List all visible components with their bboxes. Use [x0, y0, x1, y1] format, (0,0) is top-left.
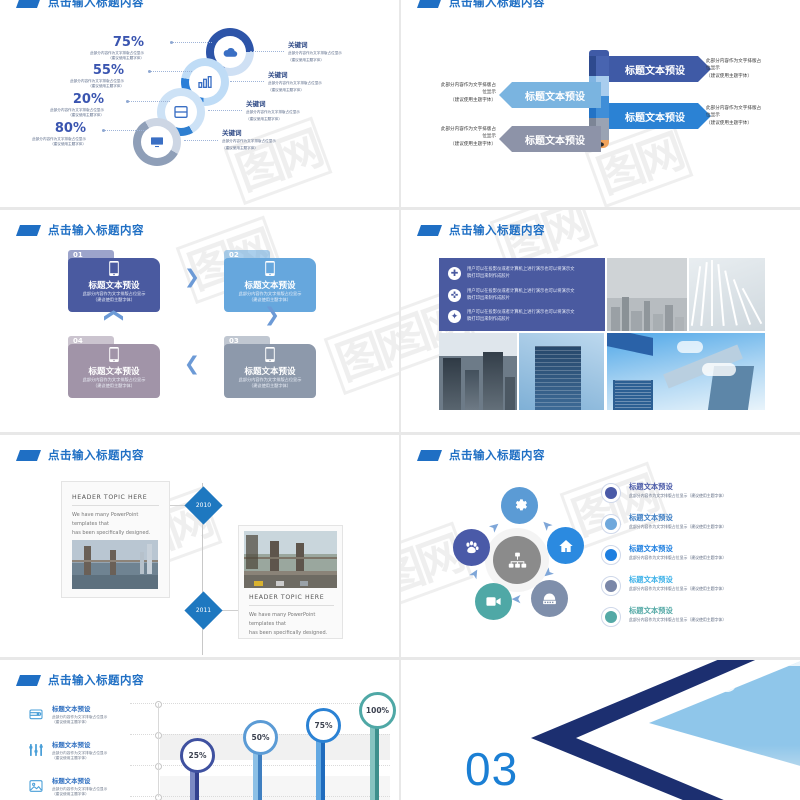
home-icon — [558, 538, 574, 554]
photo-glass-towers — [439, 333, 517, 410]
pencil-segment — [589, 56, 609, 76]
card-body-line: has been specifically designed. — [249, 629, 334, 638]
globe-icon: ✜ — [448, 289, 461, 302]
slide-pencil-funnel[interactable]: 图网 点击输入标题内容 标题文本预设 此部分内容作为文字排版占 位显示 （建议使… — [401, 0, 800, 207]
folder-number: 01 — [73, 251, 83, 259]
slide-header: 点击输入标题内容 — [419, 447, 545, 463]
hub-node-phone[interactable] — [531, 580, 568, 617]
legend-desc: 此部分内容作为文字排版占位显示（建议使用主题字体） — [629, 524, 726, 530]
slide-header: 点击输入标题内容 — [18, 672, 144, 688]
folder-number: 02 — [229, 251, 239, 259]
legend-desc: 此部分内容作为文字排版占位显示 （建议使用主题字体） — [52, 751, 107, 762]
axis-marker — [155, 732, 162, 739]
card-body-line: has been specifically designed. — [72, 529, 159, 538]
slide-circles-percent[interactable]: 图网 点击输入标题内容 — [0, 0, 399, 207]
branch-desc-line: 此部分内容作为文字排版占 — [408, 82, 496, 89]
legend-desc-line: （建议使用主题字体） — [52, 720, 107, 725]
bar-value-label: 50% — [252, 733, 270, 742]
slide-header: 点击输入标题内容 — [18, 0, 144, 10]
rebel-icon: ✦ — [448, 310, 461, 323]
folder-desc-line: （建议使用主题字体） — [228, 383, 312, 389]
folder-number: 04 — [73, 337, 83, 345]
chart-icon — [197, 74, 213, 90]
image-icon — [28, 778, 44, 794]
keyword-desc-2: （建议使用主题字体） — [268, 88, 368, 93]
axis-marker — [155, 763, 162, 770]
folder-desc: 此部分内容作为文字排版占位显示 （建议使用主题字体） — [72, 291, 156, 304]
keyword-title: 关键词 — [288, 42, 388, 49]
card-body: We have many PowerPoint templates that h… — [72, 511, 159, 537]
percent-value: 20% — [8, 93, 104, 106]
branch-label-text: 标题文本预设 — [525, 88, 585, 103]
branch-desc: 此部分内容作为文字排版占 位显示 （建议使用主题字体） — [706, 58, 794, 80]
chevron-right-icon: ❯ — [184, 268, 200, 287]
bullet-text: 用户可以在投影仪或者计算机上进行演示也可以将演示文 稿打印出来制作成胶片 — [467, 289, 574, 302]
slide-header: 点击输入标题内容 — [419, 0, 545, 10]
bar-value-label: 25% — [189, 751, 207, 760]
page-title: 点击输入标题内容 — [48, 0, 144, 10]
folder-title: 标题文本预设 — [68, 279, 160, 291]
phone-old-icon — [541, 590, 558, 607]
folder-title: 标题文本预设 — [68, 365, 160, 377]
photo-white-structure — [689, 258, 765, 331]
branch-label[interactable]: 标题文本预设 — [499, 82, 601, 108]
keyword-item: 关键词 此部分内容作为文字排版占位显示 （建议使用主题字体） — [268, 72, 368, 93]
cover-canvas: 03 — [401, 660, 800, 800]
axis-marker — [155, 701, 162, 708]
keyword-desc-1: 此部分内容作为文字排版占位显示 — [246, 110, 346, 115]
legend-title: 标题文本预设 — [629, 483, 726, 491]
legend-row[interactable]: 标题文本预设 此部分内容作为文字排版占位显示（建议使用主题字体） — [601, 514, 786, 534]
chevron-down-icon: ❯ — [264, 306, 280, 325]
photo-brooklyn-bridge-skyline — [72, 540, 158, 589]
bullet-line: 用户可以在投影仪或者计算机上进行演示也可以将演示文 — [467, 267, 574, 274]
arrow-icon: ➤ — [540, 565, 557, 582]
chart-legend-item[interactable]: 标题文本预设 此部分内容作为文字排版占位显示 （建议使用主题字体） — [28, 706, 138, 726]
percent-value: 75% — [48, 36, 144, 49]
branch-desc: 此部分内容作为文字排版占 位显示 （建议使用主题字体） — [706, 105, 794, 127]
branch-desc-line: （建议使用主题字体） — [706, 120, 794, 127]
keyword-desc-1: 此部分内容作为文字排版占位显示 — [288, 51, 388, 56]
branch-label[interactable]: 标题文本预设 — [609, 56, 711, 82]
branch-desc: 此部分内容作为文字排版占 位显示 （建议使用主题字体） — [408, 82, 496, 104]
folder-desc: 此部分内容作为文字排版占位显示 （建议使用主题字体） — [72, 377, 156, 390]
legend-row[interactable]: 标题文本预设 此部分内容作为文字排版占位显示（建议使用主题字体） — [601, 483, 786, 503]
bullet-line: 稿打印出来制作成胶片 — [467, 296, 574, 303]
bullet-text: 用户可以在投影仪或者计算机上进行演示也可以将演示文 稿打印出来制作成胶片 — [467, 267, 574, 280]
watermark: 图网 — [322, 301, 399, 395]
slide-section-cover[interactable]: 03 — [401, 660, 800, 800]
legend-title: 标题文本预设 — [629, 576, 726, 584]
slide-thumbnail-grid: 图网 点击输入标题内容 — [0, 0, 800, 800]
cloud-icon — [222, 44, 239, 61]
legend-row[interactable]: 标题文本预设 此部分内容作为文字排版占位显示（建议使用主题字体） — [601, 576, 786, 596]
legend-desc: 此部分内容作为文字排版占位显示 （建议使用主题字体） — [52, 715, 107, 726]
page-title: 点击输入标题内容 — [48, 222, 144, 238]
percent-value: 80% — [0, 122, 86, 135]
bar-value-bubble: 75% — [306, 708, 341, 743]
folder-card[interactable]: 03 标题文本预设 此部分内容作为文字排版占位显示 （建议使用主题字体） — [224, 336, 316, 398]
sliders-icon — [28, 742, 44, 758]
keyword-desc-2: （建议使用主题字体） — [288, 58, 388, 63]
connector-dotted — [250, 51, 284, 52]
card-body-line: We have many PowerPoint templates that — [249, 611, 334, 629]
header-parallelogram-icon — [16, 0, 41, 8]
connector-dotted — [128, 101, 170, 102]
legend-dot — [601, 607, 621, 627]
phone-icon — [265, 347, 275, 367]
chart-legend-item[interactable]: 标题文本预设 此部分内容作为文字排版占位显示 （建议使用主题字体） — [28, 742, 138, 762]
arrow-icon: ➤ — [511, 593, 522, 606]
branch-desc-line: 位显示 — [706, 65, 794, 72]
card-header: HEADER TOPIC HERE — [249, 594, 334, 601]
connector-dot — [126, 100, 129, 103]
folder-card[interactable]: 04 标题文本预设 此部分内容作为文字排版占位显示 （建议使用主题字体） — [68, 336, 160, 398]
folder-desc-line: （建议使用主题字体） — [72, 383, 156, 389]
hub-node-home[interactable] — [547, 527, 584, 564]
bullet-row: ✦ 用户可以在投影仪或者计算机上进行演示也可以将演示文 稿打印出来制作成胶片 — [448, 310, 598, 323]
legend-desc: 此部分内容作为文字排版占位显示（建议使用主题字体） — [629, 617, 726, 623]
page-title: 点击输入标题内容 — [449, 0, 545, 10]
photo-blue-building — [519, 333, 604, 410]
percent-desc-2: （建议使用主题字体） — [0, 142, 86, 147]
bullet-row: ✜ 用户可以在投影仪或者计算机上进行演示也可以将演示文 稿打印出来制作成胶片 — [448, 289, 598, 302]
connector-dotted — [208, 110, 242, 111]
divider — [72, 505, 159, 506]
header-parallelogram-icon — [16, 225, 41, 236]
header-parallelogram-icon — [16, 450, 41, 461]
legend-row[interactable]: 标题文本预设 此部分内容作为文字排版占位显示（建议使用主题字体） — [601, 545, 786, 565]
percent-item: 80% 此部分内容作为文字排版占位显示 （建议使用主题字体） — [0, 122, 86, 147]
legend-dot — [601, 545, 621, 565]
timeline-year-label: 2010 — [190, 492, 217, 519]
page-title: 点击输入标题内容 — [48, 447, 144, 463]
timeline-year-label: 2011 — [190, 597, 217, 624]
percent-desc-2: （建议使用主题字体） — [28, 84, 124, 89]
hub-node-paw[interactable] — [453, 529, 490, 566]
legend-desc: 此部分内容作为文字排版占位显示（建议使用主题字体） — [629, 586, 726, 592]
header-parallelogram-icon — [417, 225, 442, 236]
bullet-panel: ✚ 用户可以在投影仪或者计算机上进行演示也可以将演示文 稿打印出来制作成胶片 ✜… — [439, 258, 605, 331]
bullet-row: ✚ 用户可以在投影仪或者计算机上进行演示也可以将演示文 稿打印出来制作成胶片 — [448, 267, 598, 280]
percent-item: 75% 此部分内容作为文字排版占位显示 （建议使用主题字体） — [48, 36, 144, 61]
gridline — [130, 703, 390, 704]
keyword-item: 关键词 此部分内容作为文字排版占位显示 （建议使用主题字体） — [246, 101, 346, 122]
legend-desc: 此部分内容作为文字排版占位显示 （建议使用主题字体） — [52, 787, 107, 798]
branch-label-text: 标题文本预设 — [625, 109, 685, 124]
bar-chart: 25% 50% 75% 100% — [130, 698, 390, 800]
card-header: HEADER TOPIC HERE — [72, 494, 159, 501]
branch-label-text: 标题文本预设 — [625, 62, 685, 77]
slide-header: 点击输入标题内容 — [18, 447, 144, 463]
bullet-line: 用户可以在投影仪或者计算机上进行演示也可以将演示文 — [467, 310, 574, 317]
timeline-card[interactable]: HEADER TOPIC HERE We have many PowerPoin… — [61, 481, 170, 598]
folder-title: 标题文本预设 — [224, 365, 316, 377]
connector-dot — [102, 129, 105, 132]
slide-bar-chart[interactable]: 点击输入标题内容 标题文本预设 此部分内容作为文字排版占位显示 （建议使用主题字… — [0, 660, 399, 800]
page-title: 点击输入标题内容 — [48, 672, 144, 688]
branch-desc-line: （建议使用主题字体） — [706, 73, 794, 80]
slide-header: 点击输入标题内容 — [18, 222, 144, 238]
photo-sky-skyscrapers — [607, 333, 765, 410]
connector-dot — [170, 41, 173, 44]
branch-desc-line: （建议使用主题字体） — [408, 141, 496, 148]
keyword-title: 关键词 — [222, 130, 322, 137]
legend-title: 标题文本预设 — [52, 778, 107, 785]
slide-folder-cycle[interactable]: 图网 图网 点击输入标题内容 01 标题文本预设 此部分内容作为文字排版占位显示… — [0, 210, 399, 432]
video-icon — [485, 593, 502, 610]
percent-desc-2: （建议使用主题字体） — [8, 113, 104, 118]
header-parallelogram-icon — [417, 450, 442, 461]
header-parallelogram-icon — [16, 675, 41, 686]
keyword-desc-2: （建议使用主题字体） — [222, 146, 322, 151]
page-title: 点击输入标题内容 — [449, 222, 545, 238]
legend-title: 标题文本预设 — [52, 706, 107, 713]
connector-dotted — [230, 81, 264, 82]
branch-desc: 此部分内容作为文字排版占 位显示 （建议使用主题字体） — [408, 126, 496, 148]
keyword-desc-2: （建议使用主题字体） — [246, 117, 346, 122]
branch-desc-line: 此部分内容作为文字排版占 — [706, 58, 794, 65]
percent-value: 55% — [28, 64, 124, 77]
percent-desc-2: （建议使用主题字体） — [48, 56, 144, 61]
slide-photo-grid[interactable]: 图网 图网 点击输入标题内容 ✚ 用户可以在投影仪或者计算机上进行演示也可以将演… — [401, 210, 800, 432]
keyword-title: 关键词 — [246, 101, 346, 108]
timeline-year-marker[interactable]: 2010 — [184, 486, 222, 524]
photo-city-skyline-gray — [607, 258, 687, 331]
branch-label[interactable]: 标题文本预设 — [499, 126, 601, 152]
card-body-line: We have many PowerPoint templates that — [72, 511, 159, 529]
folder-number: 03 — [229, 337, 239, 345]
bar-value-bubble: 50% — [243, 720, 278, 755]
percent-item: 55% 此部分内容作为文字排版占位显示 （建议使用主题字体） — [28, 64, 124, 89]
photo-brooklyn-bridge-traffic — [244, 531, 337, 588]
page-title: 点击输入标题内容 — [449, 447, 545, 463]
legend-title: 标题文本预设 — [629, 514, 726, 522]
branch-desc-line: 位显示 — [408, 133, 496, 140]
percent-item: 20% 此部分内容作为文字排版占位显示 （建议使用主题字体） — [8, 93, 104, 118]
keyword-desc-1: 此部分内容作为文字排版占位显示 — [222, 139, 322, 144]
hub-node-gear[interactable] — [501, 487, 538, 524]
branch-label-text: 标题文本预设 — [525, 132, 585, 147]
branch-desc-line: 位显示 — [408, 89, 496, 96]
keyword-item: 关键词 此部分内容作为文字排版占位显示 （建议使用主题字体） — [288, 42, 388, 63]
ring-node-4 — [133, 118, 181, 166]
branch-desc-line: 此部分内容作为文字排版占 — [408, 126, 496, 133]
section-number: 03 — [465, 742, 518, 796]
branch-desc-line: （建议使用主题字体） — [408, 97, 496, 104]
monitor-icon — [149, 134, 165, 150]
chevron-up-icon: ❯ — [103, 308, 122, 324]
timeline-year-marker[interactable]: 2011 — [184, 591, 222, 629]
connector-dotted — [184, 140, 218, 141]
timeline-card[interactable]: HEADER TOPIC HERE We have many PowerPoin… — [238, 525, 343, 639]
folder-desc: 此部分内容作为文字排版占位显示 （建议使用主题字体） — [228, 377, 312, 390]
legend-title: 标题文本预设 — [629, 545, 726, 553]
branch-desc-line: 此部分内容作为文字排版占 — [706, 105, 794, 112]
phone-icon — [265, 261, 275, 281]
folder-desc-line: （建议使用主题字体） — [228, 297, 312, 303]
folder-desc-line: （建议使用主题字体） — [72, 297, 156, 303]
folder-card[interactable]: 02 标题文本预设 此部分内容作为文字排版占位显示 （建议使用主题字体） — [224, 250, 316, 312]
legend-title: 标题文本预设 — [52, 742, 107, 749]
branch-label[interactable]: 标题文本预设 — [609, 103, 711, 129]
connector-dot — [148, 70, 151, 73]
plus-circle-icon: ✚ — [448, 267, 461, 280]
slide-header: 点击输入标题内容 — [419, 222, 545, 238]
folder-card[interactable]: 01 标题文本预设 此部分内容作为文字排版占位显示 （建议使用主题字体） — [68, 250, 160, 312]
branch-desc-line: 位显示 — [706, 112, 794, 119]
legend-title: 标题文本预设 — [629, 607, 726, 615]
hub-node-video[interactable] — [475, 583, 512, 620]
watermark: 图网 — [222, 111, 333, 205]
bar-value-label: 75% — [315, 721, 333, 730]
hub-center — [493, 536, 541, 584]
chevron-left-icon: ❮ — [184, 355, 200, 374]
header-parallelogram-icon — [417, 0, 442, 8]
wallet-icon — [28, 706, 44, 722]
legend-desc-line: （建议使用主题字体） — [52, 756, 107, 761]
card-body: We have many PowerPoint templates that h… — [249, 611, 334, 637]
connector-dotted — [172, 42, 212, 43]
legend-dot — [601, 576, 621, 596]
bullet-line: 用户可以在投影仪或者计算机上进行演示也可以将演示文 — [467, 289, 574, 296]
axis-marker — [155, 794, 162, 800]
slide-hub-diagram[interactable]: 图网 图网 点击输入标题内容 — [401, 435, 800, 657]
phone-icon — [109, 261, 119, 281]
connector-dotted — [150, 71, 192, 72]
bullet-text: 用户可以在投影仪或者计算机上进行演示也可以将演示文 稿打印出来制作成胶片 — [467, 310, 574, 323]
phone-icon — [109, 347, 119, 367]
keyword-item: 关键词 此部分内容作为文字排版占位显示 （建议使用主题字体） — [222, 130, 322, 151]
connector-dotted — [104, 130, 146, 131]
chart-legend-item[interactable]: 标题文本预设 此部分内容作为文字排版占位显示 （建议使用主题字体） — [28, 778, 138, 798]
inbox-icon — [173, 104, 189, 120]
legend-dot — [601, 514, 621, 534]
folder-title: 标题文本预设 — [224, 279, 316, 291]
legend-desc: 此部分内容作为文字排版占位显示（建议使用主题字体） — [629, 555, 726, 561]
legend-row[interactable]: 标题文本预设 此部分内容作为文字排版占位显示（建议使用主题字体） — [601, 607, 786, 627]
bar-value-bubble: 100% — [359, 692, 396, 729]
bar-value-label: 100% — [366, 706, 389, 715]
bullet-line: 稿打印出来制作成胶片 — [467, 317, 574, 324]
divider — [249, 605, 334, 606]
keyword-desc-1: 此部分内容作为文字排版占位显示 — [268, 81, 368, 86]
gear-icon — [512, 498, 528, 514]
keyword-title: 关键词 — [268, 72, 368, 79]
legend-desc-line: （建议使用主题字体） — [52, 792, 107, 797]
bar-value-bubble: 25% — [180, 738, 215, 773]
folder-desc: 此部分内容作为文字排版占位显示 （建议使用主题字体） — [228, 291, 312, 304]
paw-icon — [463, 539, 480, 556]
y-axis — [158, 703, 159, 797]
arrow-icon: ➤ — [466, 566, 483, 582]
bullet-line: 稿打印出来制作成胶片 — [467, 274, 574, 281]
org-chart-icon — [508, 551, 527, 570]
legend-desc: 此部分内容作为文字排版占位显示（建议使用主题字体） — [629, 493, 726, 499]
legend-dot — [601, 483, 621, 503]
slide-timeline[interactable]: 图网 点击输入标题内容 HEADER TOPIC HERE We have ma… — [0, 435, 399, 657]
